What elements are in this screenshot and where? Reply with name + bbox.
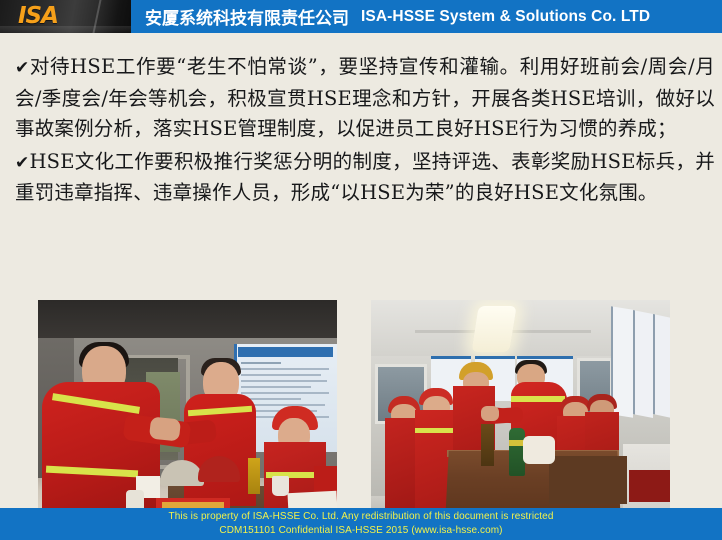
photo1-board-line	[241, 368, 329, 370]
photo1-ceiling	[38, 300, 337, 338]
bullet-item-1: ✔对待HSE工作要“老生不怕常谈”，要坚持宣传和灌输。利用好班前会/周会/月会/…	[15, 52, 715, 145]
bullet-list: ✔对待HSE工作要“老生不怕常谈”，要坚持宣传和灌输。利用好班前会/周会/月会/…	[15, 52, 715, 211]
photo-handshake-award	[38, 300, 337, 520]
photo2-fire-extinguisher	[481, 424, 494, 466]
photo2-handshake	[481, 406, 499, 421]
logo-band: ISA	[0, 0, 131, 33]
photo2-wall-poster	[633, 310, 653, 418]
photo1-board-line	[241, 386, 311, 388]
bullet-item-2: ✔HSE文化工作要积极推行奖惩分明的制度，坚持评选、表彰奖励HSE标兵，并重罚违…	[15, 147, 715, 209]
check-icon: ✔	[15, 153, 29, 173]
photo2-cabinet-red-panel	[629, 470, 670, 502]
company-name-cn: 安厦系统科技有限责任公司	[145, 4, 349, 29]
slide-header: ISA 安厦系统科技有限责任公司 ISA-HSSE System & Solut…	[0, 0, 722, 33]
header-title-band: 安厦系统科技有限责任公司 ISA-HSSE System & Solutions…	[131, 0, 722, 33]
photo1-handshake	[149, 416, 181, 441]
photo1-board-header	[238, 347, 333, 357]
photo1-board-line	[241, 392, 329, 394]
footer-document-id-line: CDM151101 Confidential ISA-HSSE 2015 (ww…	[0, 524, 722, 538]
photo-safety-training-meeting	[371, 300, 670, 520]
slide-footer: This is property of ISA-HSSE Co. Ltd. An…	[0, 508, 722, 540]
photo2-bench	[549, 456, 627, 504]
photo1-board-line	[241, 362, 281, 364]
photo1-cup	[272, 476, 289, 496]
footer-copyright-line: This is property of ISA-HSSE Co. Ltd. An…	[0, 510, 722, 524]
bullet-text-1: 对待HSE工作要“老生不怕常谈”，要坚持宣传和灌输。利用好班前会/周会/月会/季…	[15, 55, 715, 140]
photo1-board-line	[241, 380, 327, 382]
logo-divider-icon	[92, 0, 101, 33]
photo2-worker2-stripe	[415, 428, 455, 433]
photo2-worker4-stripe	[511, 396, 565, 402]
photo2-wall-poster	[653, 314, 670, 418]
company-name-en: ISA-HSSE System & Solutions Co. LTD	[361, 8, 650, 26]
photo2-ceiling-light	[471, 306, 516, 352]
check-icon: ✔	[15, 58, 29, 78]
photo2-white-bag	[523, 436, 555, 464]
slide-body: ✔对待HSE工作要“老生不怕常谈”，要坚持宣传和灌输。利用好班前会/周会/月会/…	[0, 33, 722, 508]
photo1-bottle	[248, 458, 260, 494]
slide: ISA 安厦系统科技有限责任公司 ISA-HSSE System & Solut…	[0, 0, 722, 540]
photo1-board-line	[241, 374, 321, 376]
bullet-text-2: HSE文化工作要积极推行奖惩分明的制度，坚持评选、表彰奖励HSE标兵，并重罚违章…	[15, 150, 715, 205]
isa-logo: ISA	[18, 4, 58, 29]
